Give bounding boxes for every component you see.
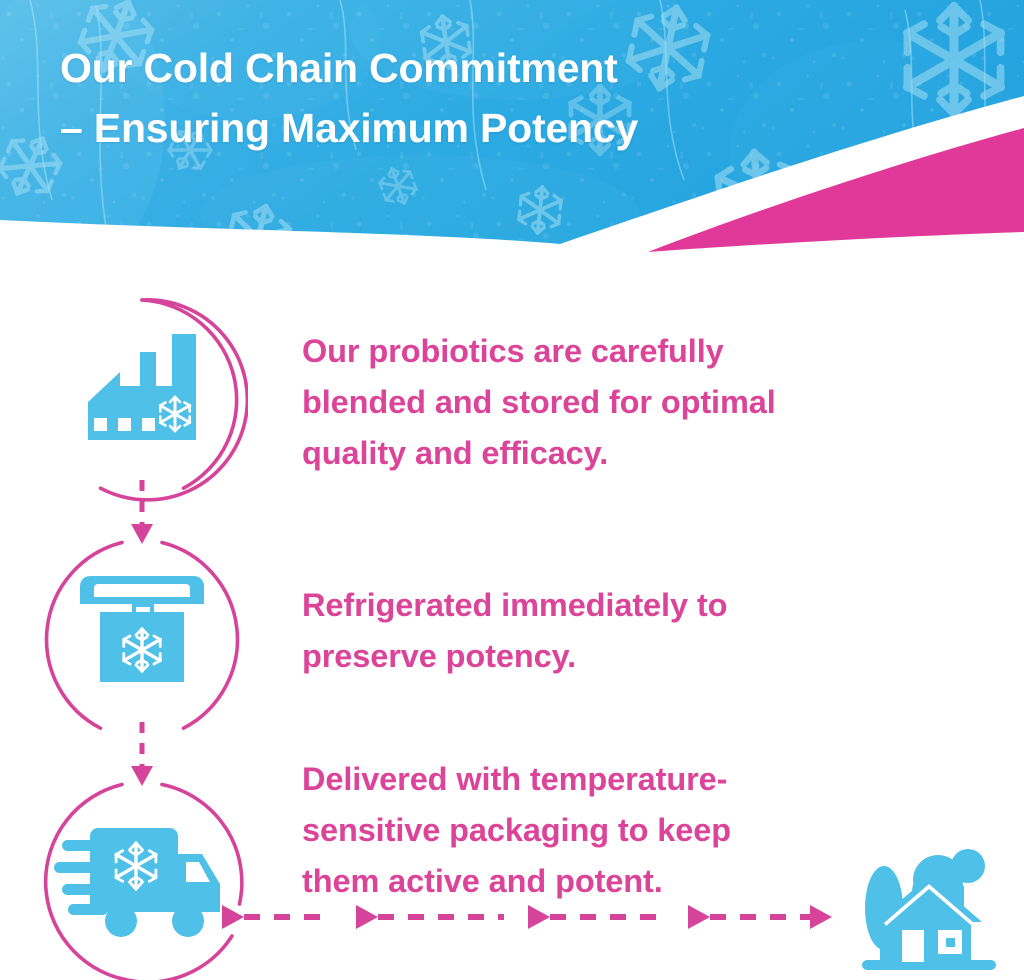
house-trees-sun-icon [854, 838, 1004, 974]
step-2-line-1: Refrigerated immediately to [302, 587, 727, 623]
step-3-ring-bottom [124, 936, 232, 980]
step-2-line-2: preserve potency. [302, 638, 576, 674]
step-2-text: Refrigerated immediately to preserve pot… [302, 580, 902, 682]
step-3-line-3: them active and potent. [302, 863, 663, 899]
header-banner: Our Cold Chain Commitment – Ensuring Max… [0, 0, 1024, 262]
delivery-path-dashed-arrow [214, 900, 834, 934]
step-1-line-1: Our probiotics are carefully [302, 333, 724, 369]
step-1-circle [36, 294, 248, 506]
step-1-line-2: blended and stored for optimal [302, 384, 776, 420]
step-3-line-2: sensitive packaging to keep [302, 812, 731, 848]
step-3-line-1: Delivered with temperature- [302, 761, 727, 797]
step-3-circle [36, 776, 248, 980]
step-3-text: Delivered with temperature- sensitive pa… [302, 754, 902, 907]
step-2-circle [36, 534, 248, 746]
factory-windows [94, 418, 155, 431]
step-1-text: Our probiotics are carefully blended and… [302, 326, 902, 479]
step-1-line-3: quality and efficacy. [302, 435, 608, 471]
title-line-1: Our Cold Chain Commitment [60, 38, 940, 98]
title-line-2: – Ensuring Maximum Potency [60, 98, 940, 158]
page-title: Our Cold Chain Commitment – Ensuring Max… [60, 38, 940, 158]
infographic-page: Our Cold Chain Commitment – Ensuring Max… [0, 0, 1024, 980]
